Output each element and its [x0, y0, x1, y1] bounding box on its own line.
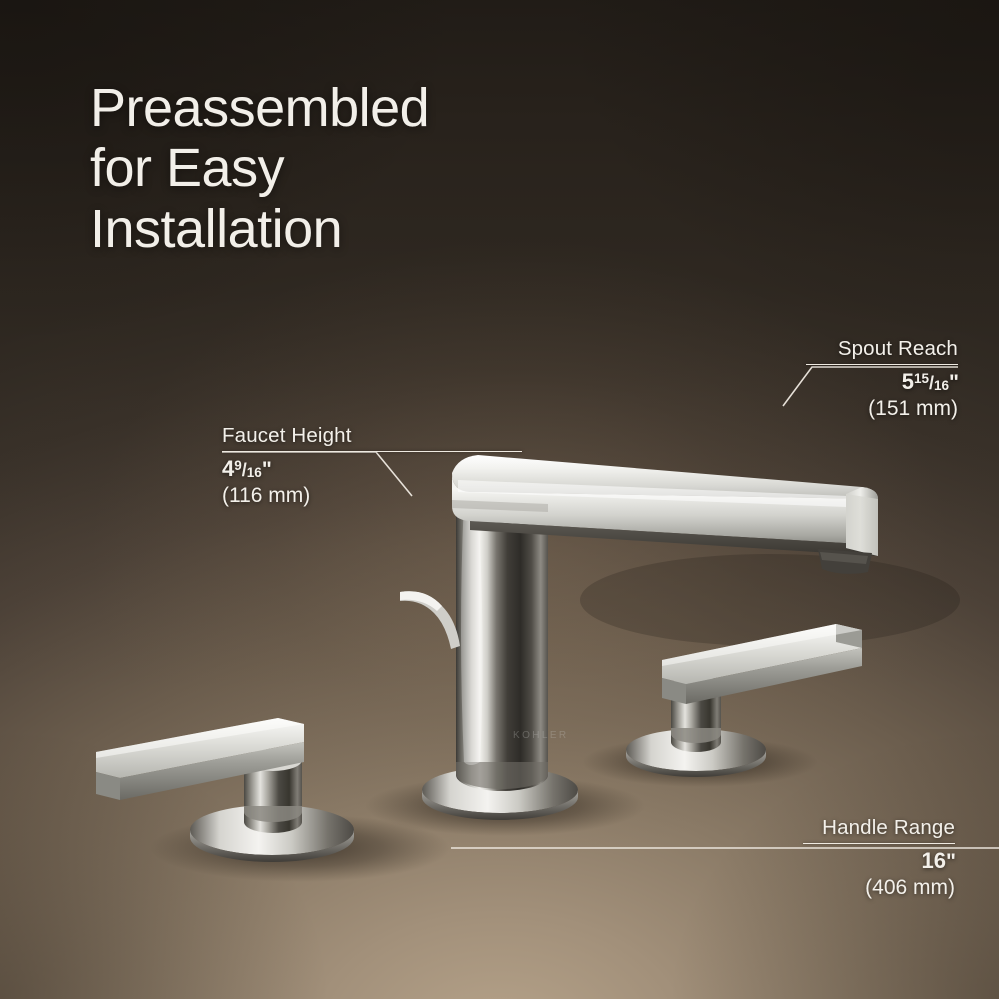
product-image: KOHLER Preassembled for Easy Installatio…	[0, 0, 999, 999]
callout-rule	[806, 364, 958, 365]
callout-faucet-height: Faucet Height 49/16" (116 mm)	[222, 424, 362, 508]
callout-rule	[803, 843, 955, 844]
callout-metric: (116 mm)	[222, 484, 362, 508]
callout-title: Faucet Height	[222, 424, 362, 448]
callout-value: 515/16"	[806, 369, 958, 395]
callout-spout-reach: Spout Reach 515/16" (151 mm)	[806, 337, 958, 421]
value-unit: "	[262, 458, 271, 481]
callout-title: Spout Reach	[806, 337, 958, 361]
callout-rule	[222, 451, 522, 452]
right-handle	[626, 624, 862, 777]
value-whole: 16	[922, 848, 946, 873]
value-whole: 4	[222, 456, 234, 481]
value-numerator: 9	[234, 458, 242, 473]
brand-engraving: KOHLER	[513, 730, 569, 741]
callout-handle-range: Handle Range 16" (406 mm)	[803, 816, 955, 900]
value-denominator: 16	[934, 378, 949, 393]
value-numerator: 15	[914, 371, 929, 386]
value-unit: "	[949, 371, 958, 394]
value-whole: 5	[902, 369, 914, 394]
callout-title: Handle Range	[803, 816, 955, 840]
callout-metric: (406 mm)	[803, 876, 955, 900]
callout-value: 16"	[803, 848, 955, 874]
page-title: Preassembled for Easy Installation	[90, 78, 429, 259]
callout-value: 49/16"	[222, 456, 362, 482]
value-denominator: 16	[247, 465, 262, 480]
value-unit: "	[946, 850, 955, 873]
callout-metric: (151 mm)	[806, 397, 958, 421]
left-handle	[96, 718, 354, 862]
